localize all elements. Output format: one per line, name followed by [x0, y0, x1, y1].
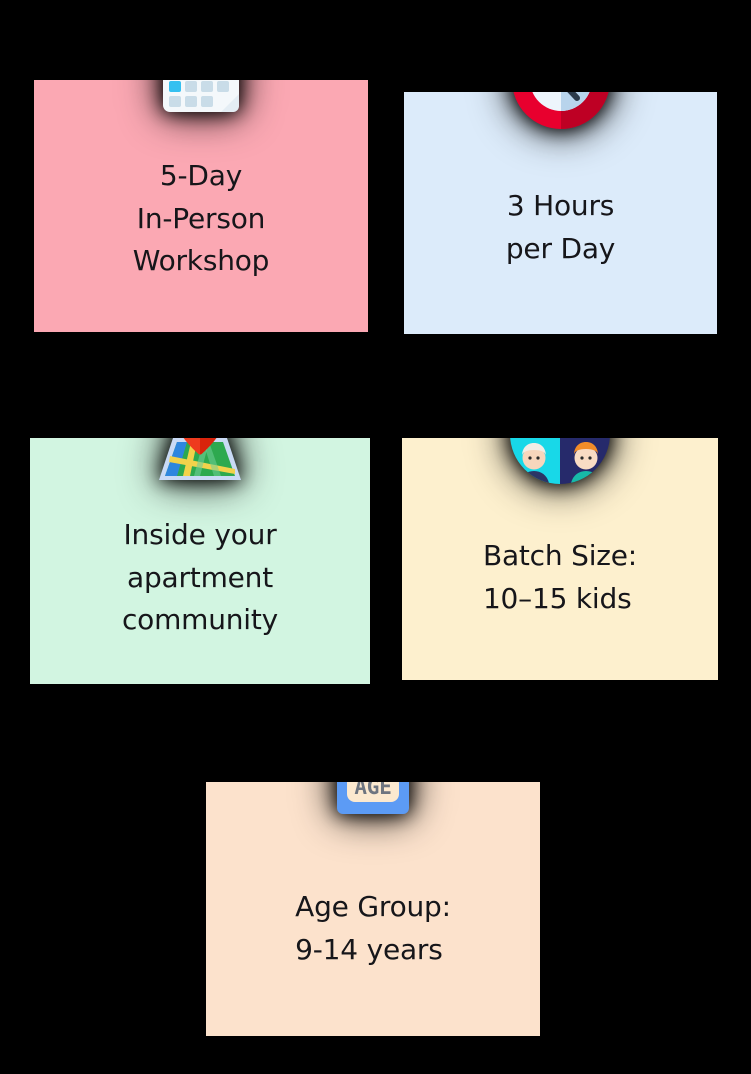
card-hours-label: 3 Hours per Day: [492, 185, 629, 270]
card-batch-label: Batch Size: 10–15 kids: [469, 535, 651, 620]
card-age[interactable]: AGE Age Group: 9-14 years: [206, 782, 540, 1036]
card-location[interactable]: Inside your apartment community: [30, 438, 370, 684]
card-location-label: Inside your apartment community: [108, 514, 292, 642]
clock-icon: [510, 29, 612, 135]
card-batch[interactable]: Batch Size: 10–15 kids: [402, 438, 718, 680]
card-workshop[interactable]: 5-Day In-Person Workshop: [34, 80, 368, 332]
people-group-icon: [509, 383, 611, 489]
calendar-icon: [155, 28, 247, 122]
card-hours[interactable]: 3 Hours per Day: [404, 92, 717, 334]
card-workshop-label: 5-Day In-Person Workshop: [119, 155, 284, 283]
card-age-label: Age Group: 9-14 years: [281, 886, 465, 971]
infographic-canvas: 5-Day In-Person Workshop 3 Hours per Day: [0, 0, 751, 1074]
age-badge-icon: AGE: [323, 724, 423, 826]
age-badge-text: AGE: [354, 775, 391, 799]
map-pin-icon: [147, 382, 253, 490]
